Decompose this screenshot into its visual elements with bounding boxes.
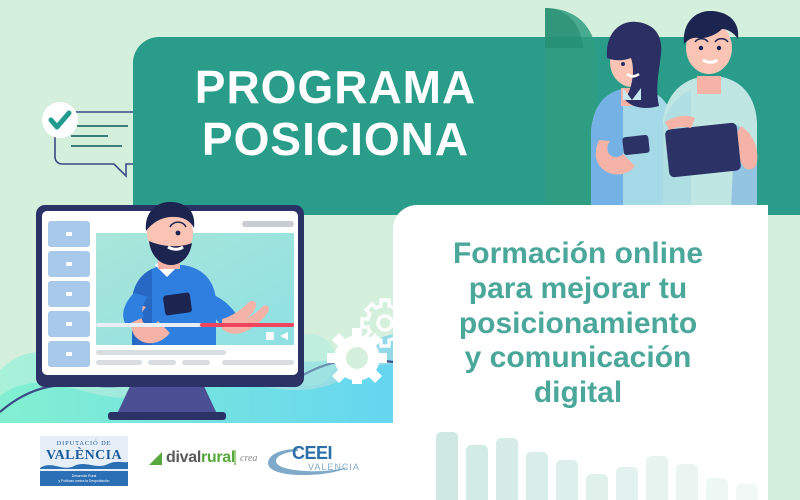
chart-bar — [616, 467, 638, 500]
subtitle-line-1: Formación online — [403, 237, 753, 272]
chart-bar — [556, 460, 578, 500]
rural-part: rural — [201, 449, 235, 466]
chart-bar — [676, 464, 698, 500]
monitor-illustration — [12, 197, 322, 423]
headline-line-2: POSICIONA — [133, 114, 538, 166]
crea-part: crea — [240, 453, 257, 464]
poster-canvas: PROGRAMA POSICIONA — [0, 0, 800, 500]
subtitle-line-3: posicionamiento — [403, 307, 753, 342]
chart-bar — [646, 456, 668, 500]
chart-bar — [526, 452, 548, 500]
chart-bar — [736, 484, 758, 500]
logo-ceei-valencia: CEEI VALENCIA — [268, 445, 368, 477]
chart-bar — [496, 438, 518, 500]
divalrural-divider — [234, 450, 236, 465]
chart-bar — [586, 474, 608, 500]
page-title: PROGRAMA POSICIONA — [133, 62, 538, 165]
headline-line-1: PROGRAMA — [133, 62, 538, 114]
logo-diputacio-valencia: DIPUTACIÓ DE VALÈNCIA Desarrollo Rural y… — [40, 436, 128, 486]
subtitle-text: Formación online para mejorar tu posicio… — [403, 237, 753, 411]
dipu-sub-1: Desarrollo Rural — [40, 474, 128, 478]
divalrural-mark-icon — [148, 452, 163, 466]
partner-logos: DIPUTACIÓ DE VALÈNCIA Desarrollo Rural y… — [40, 433, 380, 489]
dival-part: dival — [166, 449, 201, 466]
subtitle-line-4: y comunicación — [403, 341, 753, 376]
divalrural-wordmark: divalrural — [166, 449, 235, 467]
ceei-subtitle: VALENCIA — [308, 462, 360, 472]
subtitle-line-2: para mejorar tu — [403, 272, 753, 307]
dipu-wave-icon — [40, 459, 128, 471]
chart-bar — [436, 432, 458, 500]
dipu-sub-2: y Políticas contra la Despoblación — [40, 479, 128, 483]
dipu-line-1: DIPUTACIÓ DE — [40, 440, 128, 447]
logo-divalrural-crea: divalrural crea — [148, 449, 252, 471]
subtitle-line-5: digital — [403, 376, 753, 411]
people-illustration — [545, 0, 800, 210]
footer-green-accent — [768, 423, 800, 500]
chart-bar — [706, 478, 728, 500]
chart-bar — [466, 445, 488, 500]
ceei-wordmark: CEEI — [292, 443, 332, 464]
decorative-bar-chart — [432, 423, 762, 500]
chat-bubble-icon — [40, 100, 145, 182]
